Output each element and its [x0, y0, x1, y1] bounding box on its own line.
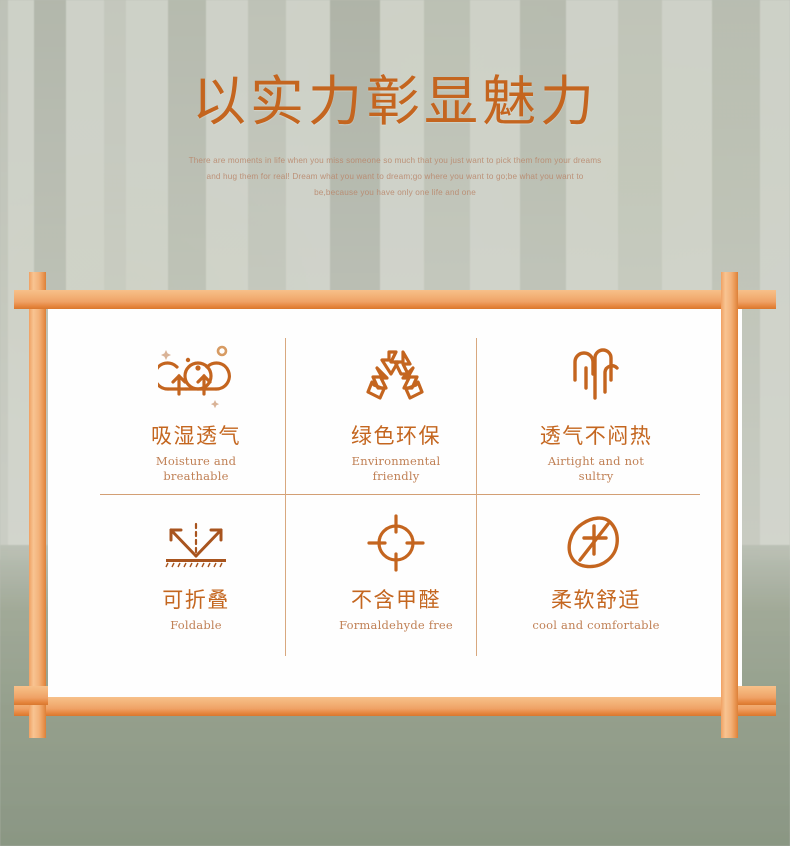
feature-title-cn: 不含甲醛 [351, 588, 441, 612]
grid-divider-vertical-2 [476, 338, 477, 656]
feature-title-en: Formaldehyde free [339, 618, 453, 633]
feature-title-cn: 绿色环保 [351, 424, 441, 448]
feature-title-en: cool and comfortable [532, 618, 659, 633]
feature-title-en: Foldable [170, 618, 222, 633]
grid-divider-vertical-1 [285, 338, 286, 656]
moisture-breathable-icon [158, 334, 234, 410]
frame-cross-stub-bottom-right [738, 686, 776, 705]
foldable-arrows-icon [158, 506, 234, 574]
recycle-icon [360, 334, 432, 410]
feature-item-formaldehyde-free[interactable]: 不含甲醛 Formaldehyde free [296, 494, 496, 660]
airflow-icon [561, 334, 631, 410]
feature-item-foldable[interactable]: 可折叠 Foldable [96, 494, 296, 660]
frame-beam-right [721, 272, 738, 738]
feature-title-en: Environmental friendly [341, 454, 451, 483]
feature-title-cn: 可折叠 [162, 588, 230, 612]
page-title: 以实力彰显魅力 [0, 72, 790, 131]
feature-item-cool-comfortable[interactable]: 柔软舒适 cool and comfortable [496, 494, 696, 660]
feature-title-en: Moisture and breathable [141, 454, 251, 483]
feature-title-cn: 透气不闷热 [540, 424, 653, 448]
page-subtitle: There are moments in life when you miss … [185, 153, 605, 201]
leaf-icon [564, 506, 628, 574]
feature-item-moisture-breathable[interactable]: 吸湿透气 Moisture and breathable [96, 330, 296, 494]
header: 以实力彰显魅力 There are moments in life when y… [0, 0, 790, 201]
feature-item-environmental-friendly[interactable]: 绿色环保 Environmental friendly [296, 330, 496, 494]
feature-title-cn: 吸湿透气 [151, 424, 241, 448]
feature-item-airtight-not-sultry[interactable]: 透气不闷热 Airtight and not sultry [496, 330, 696, 494]
feature-grid: 吸湿透气 Moisture and breathable 绿色环保 Env [96, 330, 696, 660]
frame-beam-bottom [14, 697, 776, 716]
feature-title-cn: 柔软舒适 [551, 588, 641, 612]
frame-cross-stub-bottom-left [14, 686, 48, 705]
frame-cross-stub-top-right [738, 290, 776, 309]
frame-beam-top [14, 290, 776, 309]
crosshair-target-icon [364, 506, 428, 574]
frame-cross-stub-top-left [14, 290, 48, 309]
frame-beam-left [29, 272, 46, 738]
grid-divider-horizontal [100, 494, 700, 495]
feature-title-en: Airtight and not sultry [546, 454, 646, 483]
